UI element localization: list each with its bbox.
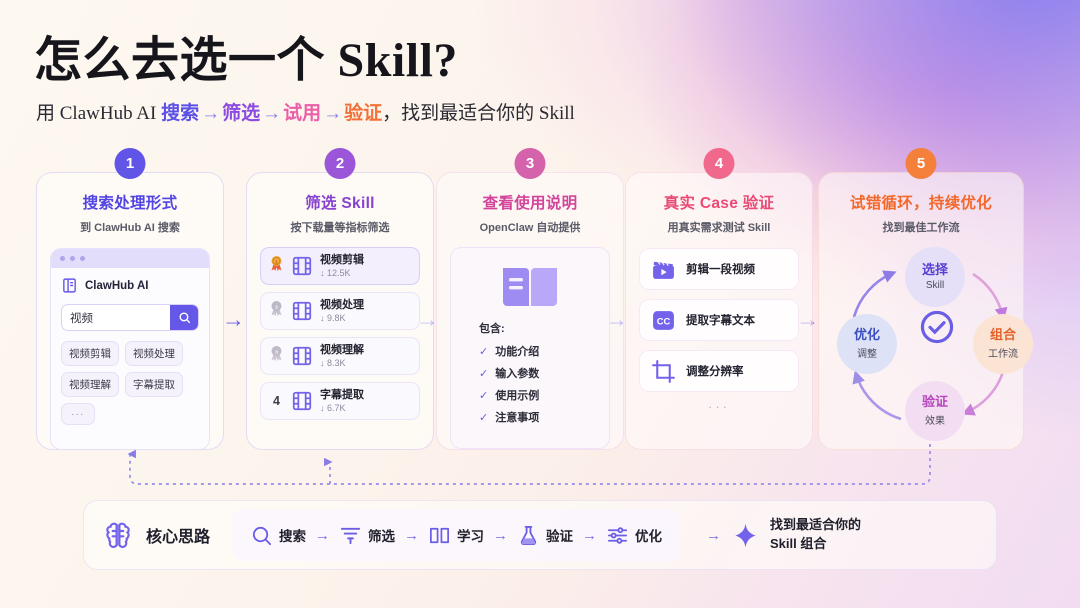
check-icon: ✓ <box>479 345 488 358</box>
page-subtitle: 用 ClawHub AI 搜索→筛选→试用→验证，找到最适合你的 Skill <box>36 98 575 125</box>
page-title: 怎么去选一个 Skill? <box>34 20 458 90</box>
cycle-node-line1: 组合 <box>990 328 1016 342</box>
film-icon <box>291 390 313 412</box>
check-icon: ✓ <box>479 411 488 424</box>
contains-label: 包含: <box>479 320 595 336</box>
skill-name: 字幕提取 <box>320 389 364 403</box>
cycle-node-line1: 选择 <box>922 263 948 277</box>
subtitle-lead: 用 ClawHub AI <box>36 103 161 124</box>
checklist-item: ✓ 使用示例 <box>479 387 595 403</box>
step-title-3: 查看使用说明 <box>450 191 610 213</box>
clapperboard-icon <box>651 257 676 282</box>
cycle-node-line1: 优化 <box>854 328 880 342</box>
svg-text:2: 2 <box>275 304 278 309</box>
result-group: → 找到最适合你的 Skill 组合 <box>706 516 861 554</box>
cycle-center <box>918 308 956 351</box>
skill-list-item[interactable]: 2 视频处理 ↓ 9.8K <box>260 292 420 330</box>
result-line-1: 找到最适合你的 <box>770 517 861 532</box>
core-idea-group: 核心思路 <box>102 519 210 551</box>
rank-medal-bronze: 3 <box>269 345 284 367</box>
chip-more[interactable]: ··· <box>61 403 95 425</box>
case-list: 剪辑一段视频 CC 提取字幕文本 调整分辨率 <box>639 248 799 392</box>
search-input-value: 视频 <box>62 305 170 330</box>
cycle-node-line2: 调整 <box>857 345 877 360</box>
pipeline-step-verify[interactable]: 验证 <box>517 524 573 547</box>
clawhub-logo-icon <box>61 277 78 294</box>
chip-0[interactable]: 视频剪辑 <box>61 341 119 366</box>
open-book-icon <box>499 262 561 310</box>
skill-list-item[interactable]: 3 视频理解 ↓ 8.3K <box>260 337 420 375</box>
svg-text:CC: CC <box>657 316 671 326</box>
pipeline-step-optimize[interactable]: 优化 <box>606 524 662 547</box>
checklist-item: ✓ 注意事项 <box>479 409 595 425</box>
cycle-node-optimize[interactable]: 优化 调整 <box>837 314 897 374</box>
pipeline-step-filter[interactable]: 筛选 <box>339 524 395 547</box>
result-line-2: Skill 组合 <box>770 536 826 551</box>
case-item[interactable]: 调整分辨率 <box>639 350 799 392</box>
pipeline-label: 搜索 <box>279 525 306 545</box>
search-icon <box>178 311 191 324</box>
subtitle-step-search: 搜索 <box>161 103 199 124</box>
step-badge-4: 4 <box>704 148 735 179</box>
step-subtitle-4: 用真实需求测试 Skill <box>639 219 799 235</box>
suggestion-chips: 视频剪辑 视频处理 视频理解 字幕提取 ··· <box>61 341 199 425</box>
search-button[interactable] <box>170 305 198 330</box>
rank-medal-gold: 1 <box>269 255 284 277</box>
skill-list-item[interactable]: 1 视频剪辑 ↓ 12.5K <box>260 247 420 285</box>
subtitle-arrow-1: → <box>199 103 222 124</box>
case-item[interactable]: 剪辑一段视频 <box>639 248 799 290</box>
film-icon <box>291 255 313 277</box>
step-subtitle-3: OpenClaw 自动提供 <box>450 219 610 235</box>
chip-3[interactable]: 字幕提取 <box>125 372 183 397</box>
step-badge-3: 3 <box>515 148 546 179</box>
pipeline-arrow-2: → <box>404 527 419 544</box>
pipeline-label: 学习 <box>457 525 484 545</box>
skill-downloads: ↓ 8.3K <box>320 358 364 368</box>
checklist-label: 使用示例 <box>495 387 539 403</box>
step-subtitle-2: 按下载量等指标筛选 <box>260 219 420 235</box>
check-icon: ✓ <box>479 367 488 380</box>
subtitle-arrow-3: → <box>321 103 344 124</box>
rank-value: 4 <box>273 394 280 408</box>
pipeline-arrow-1: → <box>315 527 330 544</box>
feedback-loop <box>0 440 1080 502</box>
cycle-node-line1: 验证 <box>922 395 948 409</box>
step-title-1: 搜索处理形式 <box>50 191 210 213</box>
sliders-icon <box>606 524 629 547</box>
medal-gold-icon: 1 <box>269 255 284 272</box>
doc-panel: 包含: ✓ 功能介绍 ✓ 输入参数 ✓ 使用示例 <box>450 247 610 449</box>
doc-checklist: 包含: ✓ 功能介绍 ✓ 输入参数 ✓ 使用示例 <box>465 320 595 431</box>
pipeline-step-learn[interactable]: 学习 <box>428 524 484 547</box>
browser-titlebar <box>51 249 209 268</box>
pipeline-step-search[interactable]: 搜索 <box>250 524 306 547</box>
skill-ranking-list: 1 视频剪辑 ↓ 12.5K <box>260 247 420 420</box>
chip-1[interactable]: 视频处理 <box>125 341 183 366</box>
skill-name: 视频理解 <box>320 344 364 358</box>
pipeline-group: 搜索 → 筛选 → 学习 → <box>232 509 680 561</box>
result-text: 找到最适合你的 Skill 组合 <box>770 516 861 554</box>
skill-list-item[interactable]: 4 字幕提取 ↓ 6.7K <box>260 382 420 420</box>
core-idea-label: 核心思路 <box>146 523 210 547</box>
step-title-2: 筛选 Skill <box>260 191 420 213</box>
cc-icon: CC <box>651 308 676 333</box>
checklist-item: ✓ 输入参数 <box>479 365 595 381</box>
step-badge-2: 2 <box>325 148 356 179</box>
subtitle-step-verify: 验证 <box>344 103 382 124</box>
rank-number: 4 <box>269 392 284 410</box>
subtitle-arrow-2: → <box>260 103 283 124</box>
film-icon <box>291 300 313 322</box>
svg-text:3: 3 <box>275 349 278 354</box>
search-input[interactable]: 视频 <box>61 304 199 331</box>
skill-downloads: ↓ 6.7K <box>320 403 364 413</box>
browser-mockup: ClawHub AI 视频 视频剪辑 视频处理 <box>50 248 210 450</box>
checklist-label: 注意事项 <box>495 409 539 425</box>
film-icon <box>291 345 313 367</box>
brand-row: ClawHub AI <box>61 277 199 294</box>
pipeline-arrow-3: → <box>493 527 508 544</box>
cycle-node-combine[interactable]: 组合 工作流 <box>973 314 1033 374</box>
checklist-label: 输入参数 <box>495 365 539 381</box>
case-label: 提取字幕文本 <box>686 312 755 328</box>
subtitle-step-trial: 试用 <box>283 103 321 124</box>
brand-name: ClawHub AI <box>85 280 148 292</box>
step-badge-1: 1 <box>115 148 146 179</box>
checklist-label: 功能介绍 <box>495 343 539 359</box>
medal-bronze-icon: 3 <box>269 345 284 362</box>
search-icon <box>250 524 273 547</box>
pipeline-label: 筛选 <box>368 525 395 545</box>
cycle-node-select[interactable]: 选择 Skill <box>905 247 965 307</box>
checklist-item: ✓ 功能介绍 <box>479 343 595 359</box>
flow-arrow-1-2: → <box>222 308 245 331</box>
case-more[interactable]: ··· <box>639 399 799 414</box>
cycle-node-line2: 效果 <box>925 412 945 427</box>
book-icon <box>428 524 451 547</box>
check-icon: ✓ <box>479 389 488 402</box>
case-label: 调整分辨率 <box>686 363 744 379</box>
step-title-4: 真实 Case 验证 <box>639 191 799 213</box>
cycle-node-line2: Skill <box>926 280 944 291</box>
skill-name: 视频剪辑 <box>320 254 364 268</box>
cycle-node-line2: 工作流 <box>988 345 1018 360</box>
steps-row: → → → → 1 搜索处理形式 到 ClawHub AI 搜索 <box>0 148 1080 458</box>
skill-downloads: ↓ 12.5K <box>320 268 364 278</box>
window-dot-yellow <box>70 256 75 261</box>
skill-name: 视频处理 <box>320 299 364 313</box>
subtitle-tail: ，找到最适合你的 Skill <box>382 103 575 124</box>
pipeline-label: 验证 <box>546 525 573 545</box>
crop-icon <box>651 359 676 384</box>
step-subtitle-5: 找到最佳工作流 <box>832 219 1010 235</box>
subtitle-step-filter: 筛选 <box>222 103 260 124</box>
check-circle-icon <box>918 308 956 346</box>
medal-silver-icon: 2 <box>269 300 284 317</box>
brain-icon <box>102 519 134 551</box>
step-title-5: 试错循环，持续优化 <box>832 191 1010 213</box>
pipeline-label: 优化 <box>635 525 662 545</box>
window-dot-red <box>60 256 65 261</box>
cycle-node-verify[interactable]: 验证 效果 <box>905 381 965 441</box>
rank-medal-silver: 2 <box>269 300 284 322</box>
sparkle-icon <box>732 522 759 549</box>
window-dot-green <box>80 256 85 261</box>
flask-icon <box>517 524 540 547</box>
funnel-icon <box>339 524 362 547</box>
skill-downloads: ↓ 9.8K <box>320 313 364 323</box>
case-label: 剪辑一段视频 <box>686 261 755 277</box>
svg-text:1: 1 <box>275 259 278 264</box>
case-item[interactable]: CC 提取字幕文本 <box>639 299 799 341</box>
step-subtitle-1: 到 ClawHub AI 搜索 <box>50 219 210 235</box>
chip-2[interactable]: 视频理解 <box>61 372 119 397</box>
summary-bar: 核心思路 搜索 → 筛选 → 学习 <box>83 500 997 570</box>
result-arrow: → <box>706 527 721 544</box>
pipeline-arrow-4: → <box>582 527 597 544</box>
cycle-diagram: 选择 Skill 组合 工作流 验证 效果 优化 调整 <box>832 241 1010 445</box>
step-badge-5: 5 <box>906 148 937 179</box>
